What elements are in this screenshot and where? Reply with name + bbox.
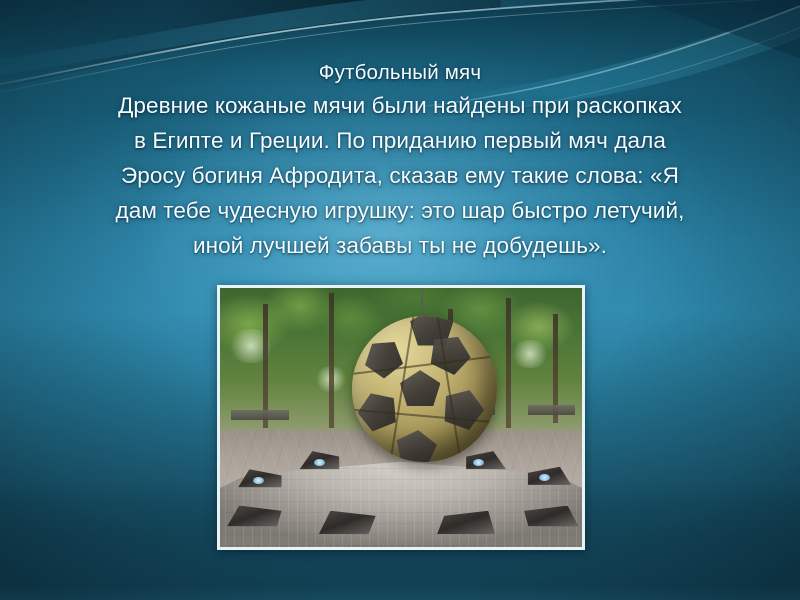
slide-body-line-5: иной лучшей забавы ты не добудешь». (22, 228, 778, 263)
slide-body-line-3: Эросу богиня Афродита, сказав ему такие … (22, 158, 778, 193)
ball-panel (400, 370, 441, 406)
slide-body-line-4: дам тебе чудесную игрушку: это шар быстр… (22, 193, 778, 228)
ball-panel (438, 383, 489, 432)
slide-text-block: Футбольный мяч Древние кожаные мячи были… (22, 58, 778, 263)
slide-body-line-2: в Египте и Греции. По приданию первый мя… (22, 123, 778, 158)
photo-soccer-ball-sculpture (352, 316, 497, 461)
ball-panel (394, 428, 438, 462)
photo-ground-lamp (314, 459, 325, 466)
presentation-slide: Футбольный мяч Древние кожаные мячи были… (0, 0, 800, 600)
slide-photo-frame (217, 285, 585, 550)
photo-park-bench (528, 405, 575, 415)
slide-title: Футбольный мяч (22, 58, 778, 88)
photo-light-gap (510, 340, 550, 368)
photo-park-bench (231, 410, 289, 420)
photo-tree-trunk (329, 293, 334, 428)
slide-body-line-1: Древние кожаные мячи были найдены при ра… (22, 88, 778, 123)
photo-ground-lamp (253, 477, 264, 484)
soccer-ball-monument-photo (220, 288, 582, 547)
photo-tree-trunk (506, 298, 511, 428)
